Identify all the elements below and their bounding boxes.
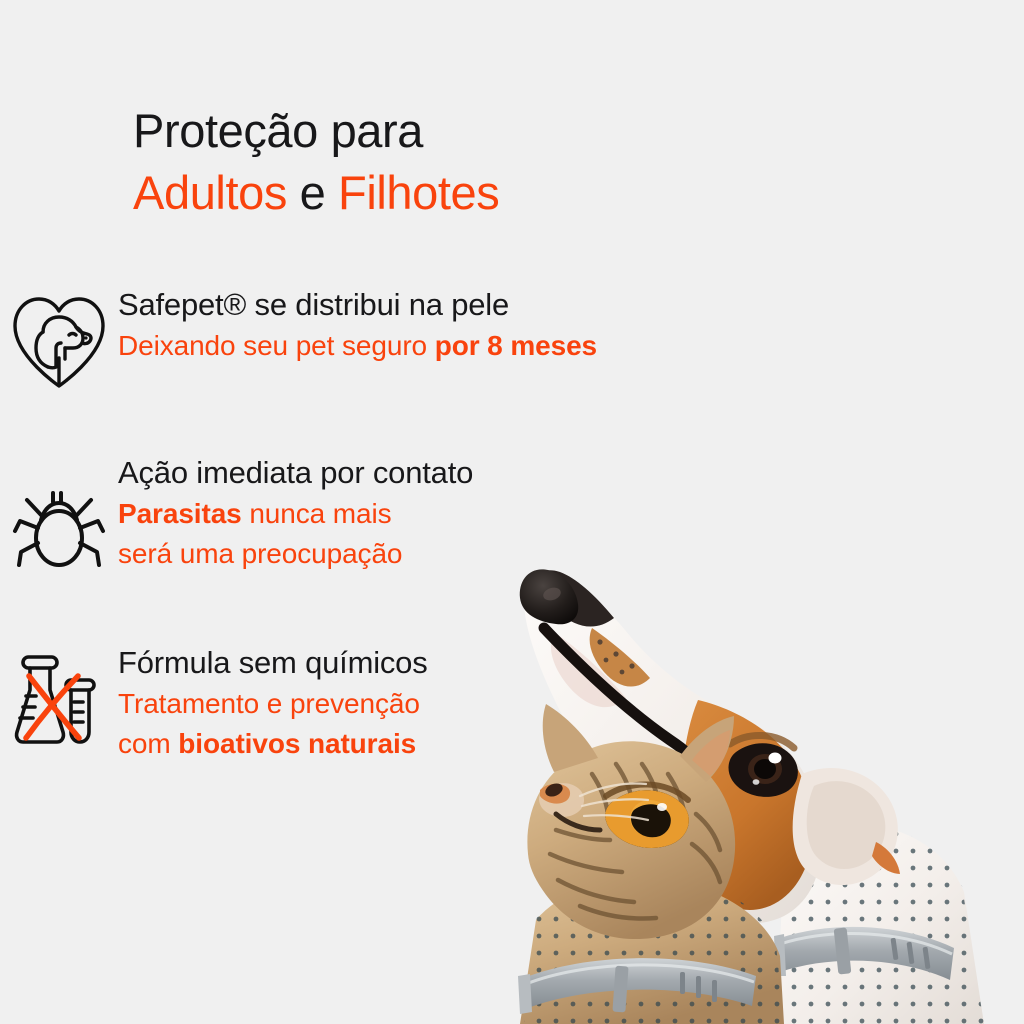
feature-subtitle-line2: será uma preocupação [118,534,473,574]
page-title: Proteção para Adultos e Filhotes [133,100,853,224]
headline-line-2: Adultos e Filhotes [133,162,853,224]
feature-title: Fórmula sem químicos [118,642,428,684]
feature-subtitle-plain: Deixando seu pet seguro [118,330,435,361]
feature-subtitle: Deixando seu pet seguro por 8 meses [118,326,597,366]
feature-subtitle-line2-plain: com [118,728,178,759]
feature-title: Safepet® se distribui na pele [118,284,597,326]
feature-subtitle-plain: nunca mais [242,498,392,529]
cat-collar [518,958,756,1014]
feature-text-no-chemicals: Fórmula sem químicos Tratamento e preven… [118,642,428,764]
tabby-cat [514,704,794,1024]
feature-text-skin-distribution: Safepet® se distribui na pele Deixando s… [118,284,597,366]
feature-subtitle-bold: por 8 meses [435,330,597,361]
feature-item-no-chemicals: Fórmula sem químicos Tratamento e preven… [0,642,428,764]
heart-dog-icon [0,284,118,392]
feature-item-skin-distribution: Safepet® se distribui na pele Deixando s… [0,284,597,392]
jack-russell-terrier [520,569,1004,1024]
feature-subtitle: Parasitas nunca mais [118,494,473,534]
feature-subtitle: Tratamento e prevenção [118,684,428,724]
tick-parasite-icon [0,452,118,574]
feature-text-immediate-action: Ação imediata por contato Parasitas nunc… [118,452,473,574]
feature-subtitle-line2-bold: bioativos naturais [178,728,416,759]
dog-and-cat-photo [484,524,1024,1024]
feature-subtitle-bold: Parasitas [118,498,242,529]
headline-word-adultos: Adultos [133,166,287,219]
feature-item-immediate-action: Ação imediata por contato Parasitas nunc… [0,452,473,574]
no-chemicals-flask-icon [0,642,118,750]
feature-title: Ação imediata por contato [118,452,473,494]
dog-collar [774,927,954,980]
headline-conjunction: e [287,166,338,219]
headline-word-filhotes: Filhotes [338,166,499,219]
feature-subtitle-line2: com bioativos naturais [118,724,428,764]
headline-line-1: Proteção para [133,100,853,162]
